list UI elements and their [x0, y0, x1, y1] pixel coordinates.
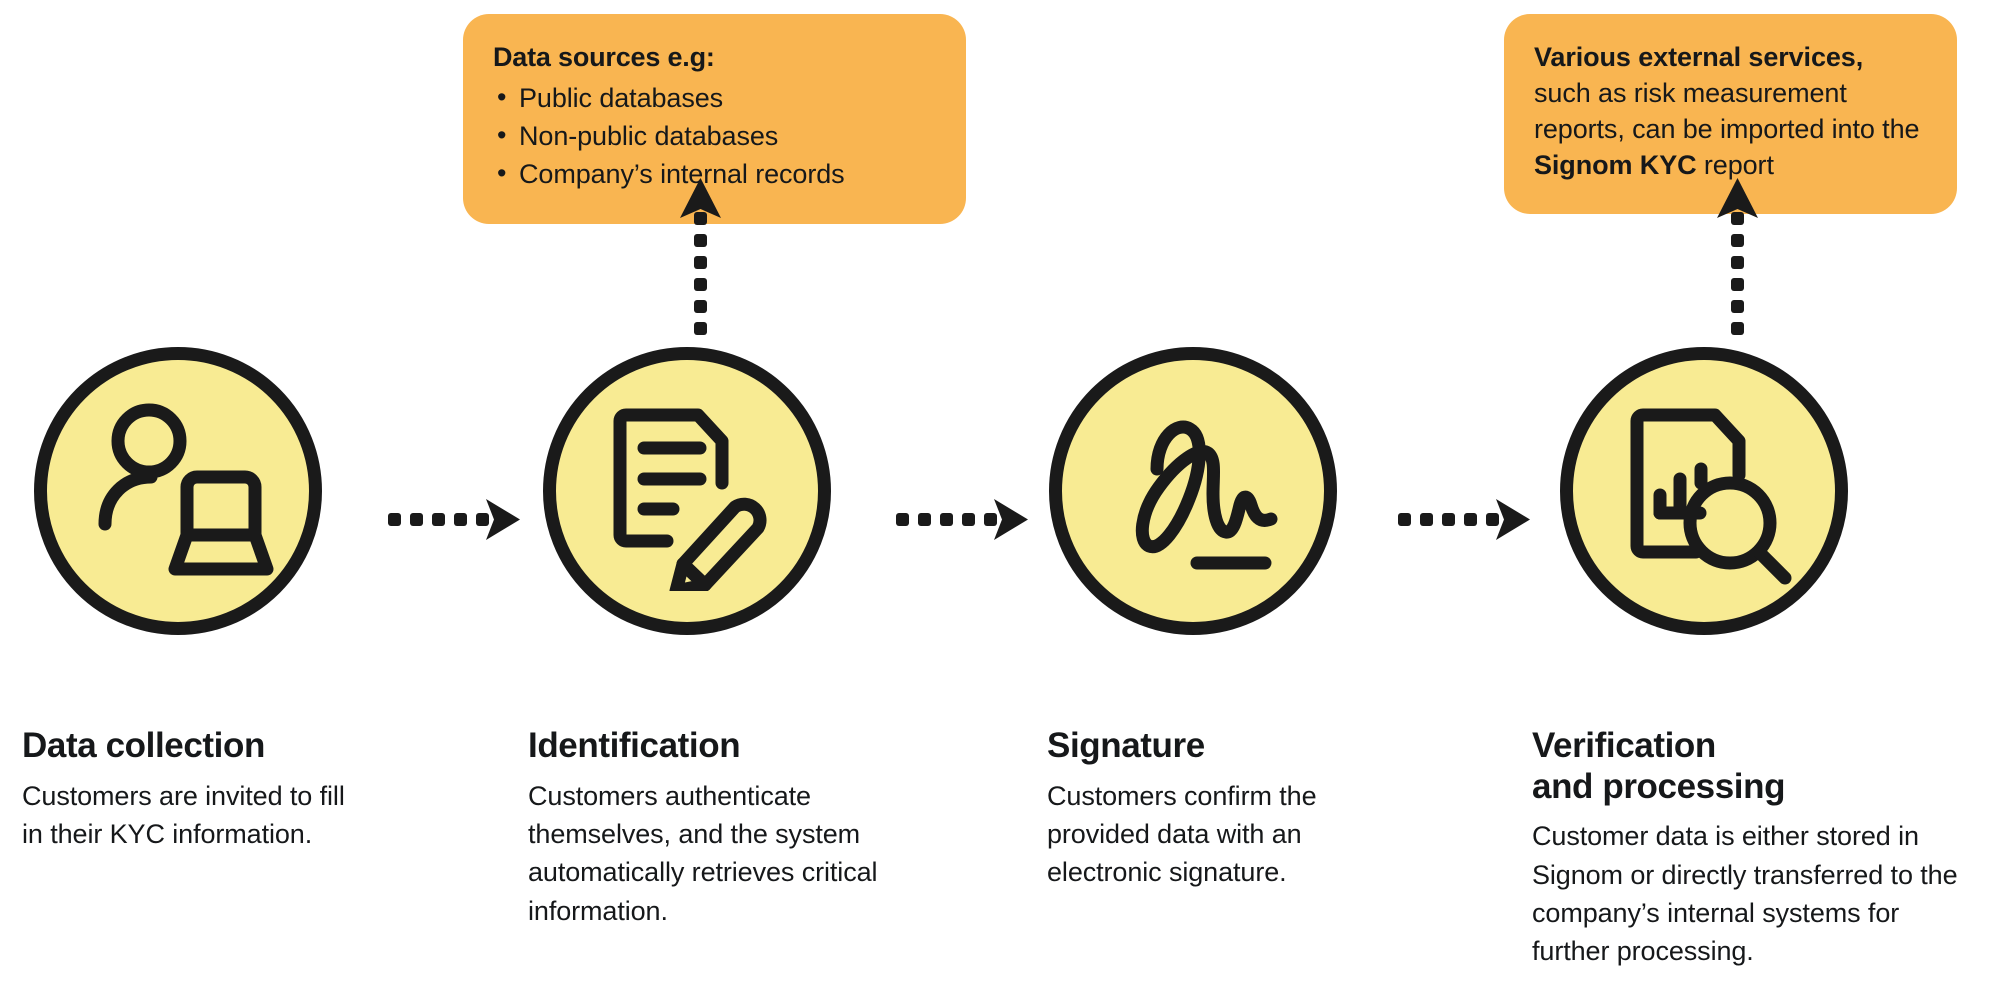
step-circle-data-collection [34, 347, 322, 635]
step-description: Customer data is either stored in Signom… [1532, 817, 1972, 970]
step-caption-signature: Signature Customers confirm the provided… [1047, 726, 1387, 892]
arrow-step4-callout-external [1705, 178, 1769, 338]
list-item: Non-public databases [493, 117, 936, 155]
step-circle-signature [1049, 347, 1337, 635]
step-title-line2: and processing [1532, 767, 1785, 806]
arrow-step3-step4 [1380, 497, 1530, 543]
callout-external-services-body-after: report [1697, 150, 1774, 180]
person-laptop-icon [78, 391, 278, 591]
step-description: Customers are invited to fill in their K… [22, 777, 352, 854]
diagram-canvas: Data sources e.g: Public databases Non-p… [0, 0, 2008, 992]
step-caption-verification: Verification and processing Customer dat… [1532, 726, 1972, 971]
arrow-step1-step2 [370, 497, 520, 543]
step-title: Data collection [22, 726, 352, 767]
step-title: Verification and processing [1532, 726, 1972, 807]
signature-icon [1093, 391, 1293, 591]
step-title: Identification [528, 726, 898, 767]
callout-data-sources-list: Public databases Non-public databases Co… [493, 79, 936, 194]
callout-external-services-text: Various external services, such as risk … [1534, 40, 1927, 184]
document-pen-icon [587, 391, 787, 591]
step-description: Customers confirm the provided data with… [1047, 777, 1387, 892]
step-caption-identification: Identification Customers authenticate th… [528, 726, 898, 930]
callout-external-services-lead: Various external services, [1534, 42, 1863, 72]
step-circle-verification [1560, 347, 1848, 635]
step-caption-data-collection: Data collection Customers are invited to… [22, 726, 352, 853]
callout-data-sources-title: Data sources e.g: [493, 40, 936, 75]
callout-external-services-brand: Signom KYC [1534, 150, 1697, 180]
step-title-line1: Verification [1532, 726, 1716, 765]
arrow-step2-step3 [878, 497, 1028, 543]
arrow-step2-callout-sources [668, 178, 732, 338]
list-item: Public databases [493, 79, 936, 117]
step-title: Signature [1047, 726, 1387, 767]
document-chart-magnifier-icon [1604, 391, 1804, 591]
step-circle-identification [543, 347, 831, 635]
step-description: Customers authenticate themselves, and t… [528, 777, 898, 930]
callout-external-services-body-before: such as risk measurement reports, can be… [1534, 78, 1919, 144]
